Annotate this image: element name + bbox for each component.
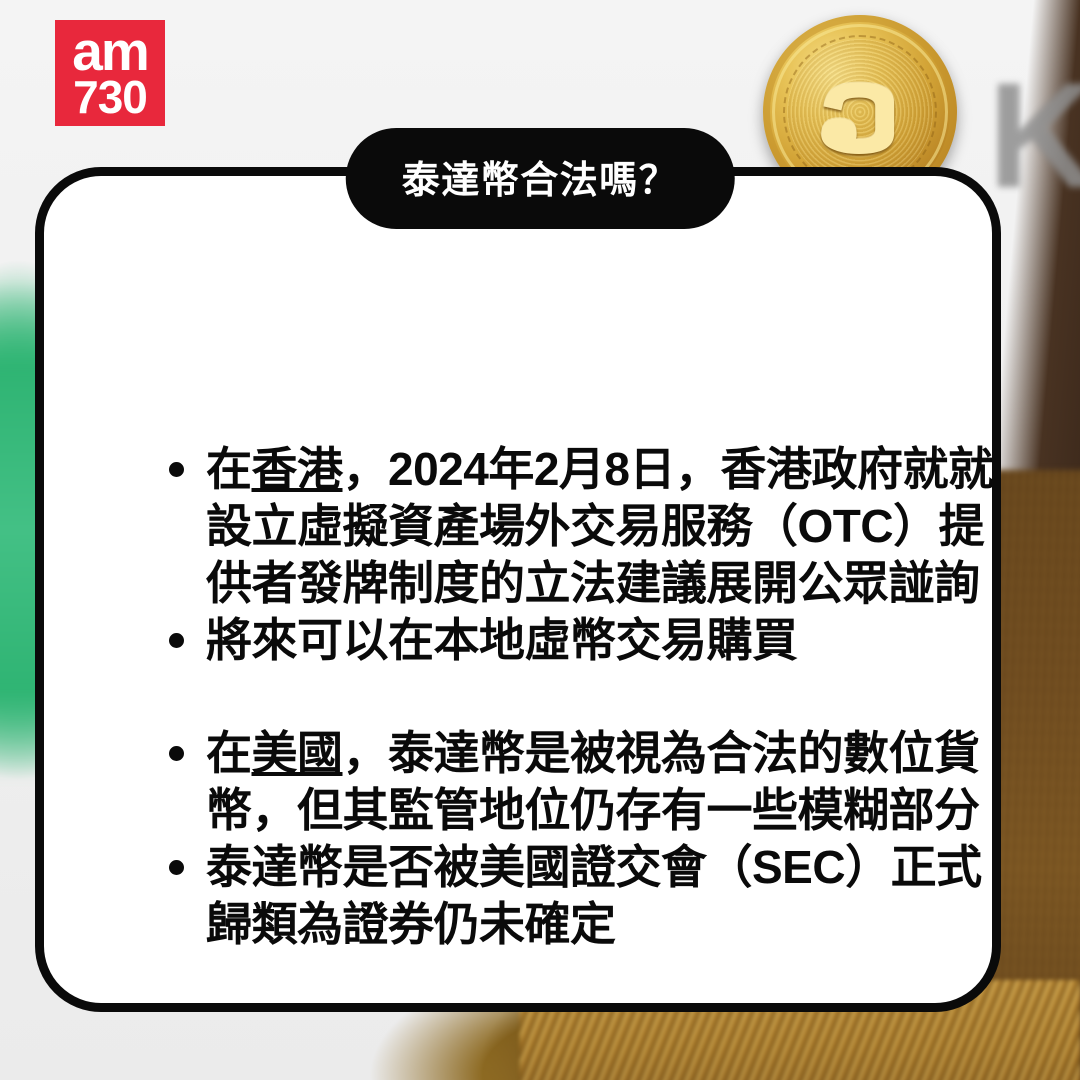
bullet-local-trading: 將來可以在本地虛幣交易購買 (206, 612, 1019, 669)
bullet-sec-classification: 泰達幣是否被美國證交會（SEC）正式歸類為證券仍未確定 (206, 839, 1019, 953)
content-card: 在香港，2024年2月8日，香港政府就就設立虛擬資產場外交易服務（OTC）提供者… (35, 167, 1001, 1012)
bullet-dot-icon (169, 860, 184, 875)
am730-logo-am-text: am (72, 27, 148, 75)
social-card-image: K am 730 ວ 在香港，2024年2月8日，香港政府就就設立虛擬資產場外交… (0, 0, 1080, 1080)
bullet-hong-kong-consultation: 在香港，2024年2月8日，香港政府就就設立虛擬資產場外交易服務（OTC）提供者… (206, 441, 1019, 612)
bullet-underlined-term: 美國 (252, 727, 343, 779)
am730-logo-730-text: 730 (73, 75, 147, 119)
bullet-body: 將來可以在本地虛幣交易購買 (206, 614, 798, 666)
list-item: 泰達幣是否被美國證交會（SEC）正式歸類為證券仍未確定 (169, 839, 1019, 953)
background-blurred-letter: K (988, 40, 1080, 230)
bullet-underlined-term: 香港 (252, 443, 343, 495)
list-item: 在香港，2024年2月8日，香港政府就就設立虛擬資產場外交易服務（OTC）提供者… (169, 441, 1019, 612)
bullet-dot-icon (169, 746, 184, 761)
bullet-dot-icon (169, 462, 184, 477)
am730-logo[interactable]: am 730 (55, 20, 165, 126)
bullet-body: 泰達幣是否被美國證交會（SEC）正式歸類為證券仍未確定 (206, 841, 982, 950)
bullet-list: 在香港，2024年2月8日，香港政府就就設立虛擬資產場外交易服務（OTC）提供者… (169, 441, 1019, 953)
bullet-dot-icon (169, 633, 184, 648)
list-item: 將來可以在本地虛幣交易購買 (169, 612, 1019, 669)
card-title-pill: 泰達幣合法嗎？ (346, 128, 735, 229)
bullet-prefix: 在 (206, 443, 252, 495)
list-item: 在美國，泰達幣是被視為合法的數位貨幣，但其監管地位仍存有一些模糊部分 (169, 725, 1019, 839)
bullet-us-legal-status: 在美國，泰達幣是被視為合法的數位貨幣，但其監管地位仍存有一些模糊部分 (206, 725, 1019, 839)
bullet-prefix: 在 (206, 727, 252, 779)
